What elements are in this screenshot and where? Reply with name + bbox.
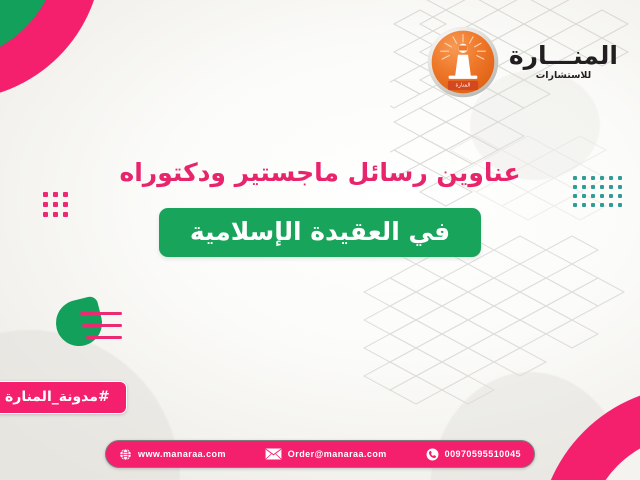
subject-banner-label: في العقيدة الإسلامية	[185, 217, 455, 246]
contact-phone-label: 00970595510045	[445, 449, 521, 459]
leaf-line	[82, 324, 122, 327]
brand-logo[interactable]: المنـــارة للاستشارات	[427, 26, 618, 98]
hashtag-badge[interactable]: #مدونة_المنارة	[0, 381, 127, 414]
pink-dot-grid	[38, 192, 68, 222]
contact-website-label: www.manaraa.com	[138, 449, 226, 459]
leaf-decoration	[56, 296, 126, 358]
lighthouse-emblem-icon: المنارة	[427, 26, 499, 98]
contact-website[interactable]: www.manaraa.com	[119, 448, 226, 461]
globe-icon	[119, 448, 132, 461]
leaf-icon	[51, 295, 107, 351]
phone-icon	[426, 448, 439, 461]
leaf-line	[86, 336, 122, 339]
page-title: عناوين رسائل ماجستير ودكتوراه	[0, 158, 640, 187]
logo-name: المنـــارة	[509, 43, 618, 68]
leaf-line	[80, 312, 122, 315]
logo-wordmark: المنـــارة للاستشارات	[509, 43, 618, 81]
envelope-icon	[265, 448, 282, 460]
contact-email[interactable]: Order@manaraa.com	[265, 448, 387, 460]
emblem-caption: المنارة	[455, 82, 470, 88]
contact-bar: www.manaraa.com Order@manaraa.com 009705…	[105, 440, 535, 468]
subject-banner: في العقيدة الإسلامية	[159, 208, 481, 257]
poster-canvas: المنـــارة للاستشارات	[0, 0, 640, 480]
contact-phone[interactable]: 00970595510045	[426, 448, 521, 461]
contact-email-label: Order@manaraa.com	[288, 449, 387, 459]
logo-tagline: للاستشارات	[536, 71, 592, 81]
